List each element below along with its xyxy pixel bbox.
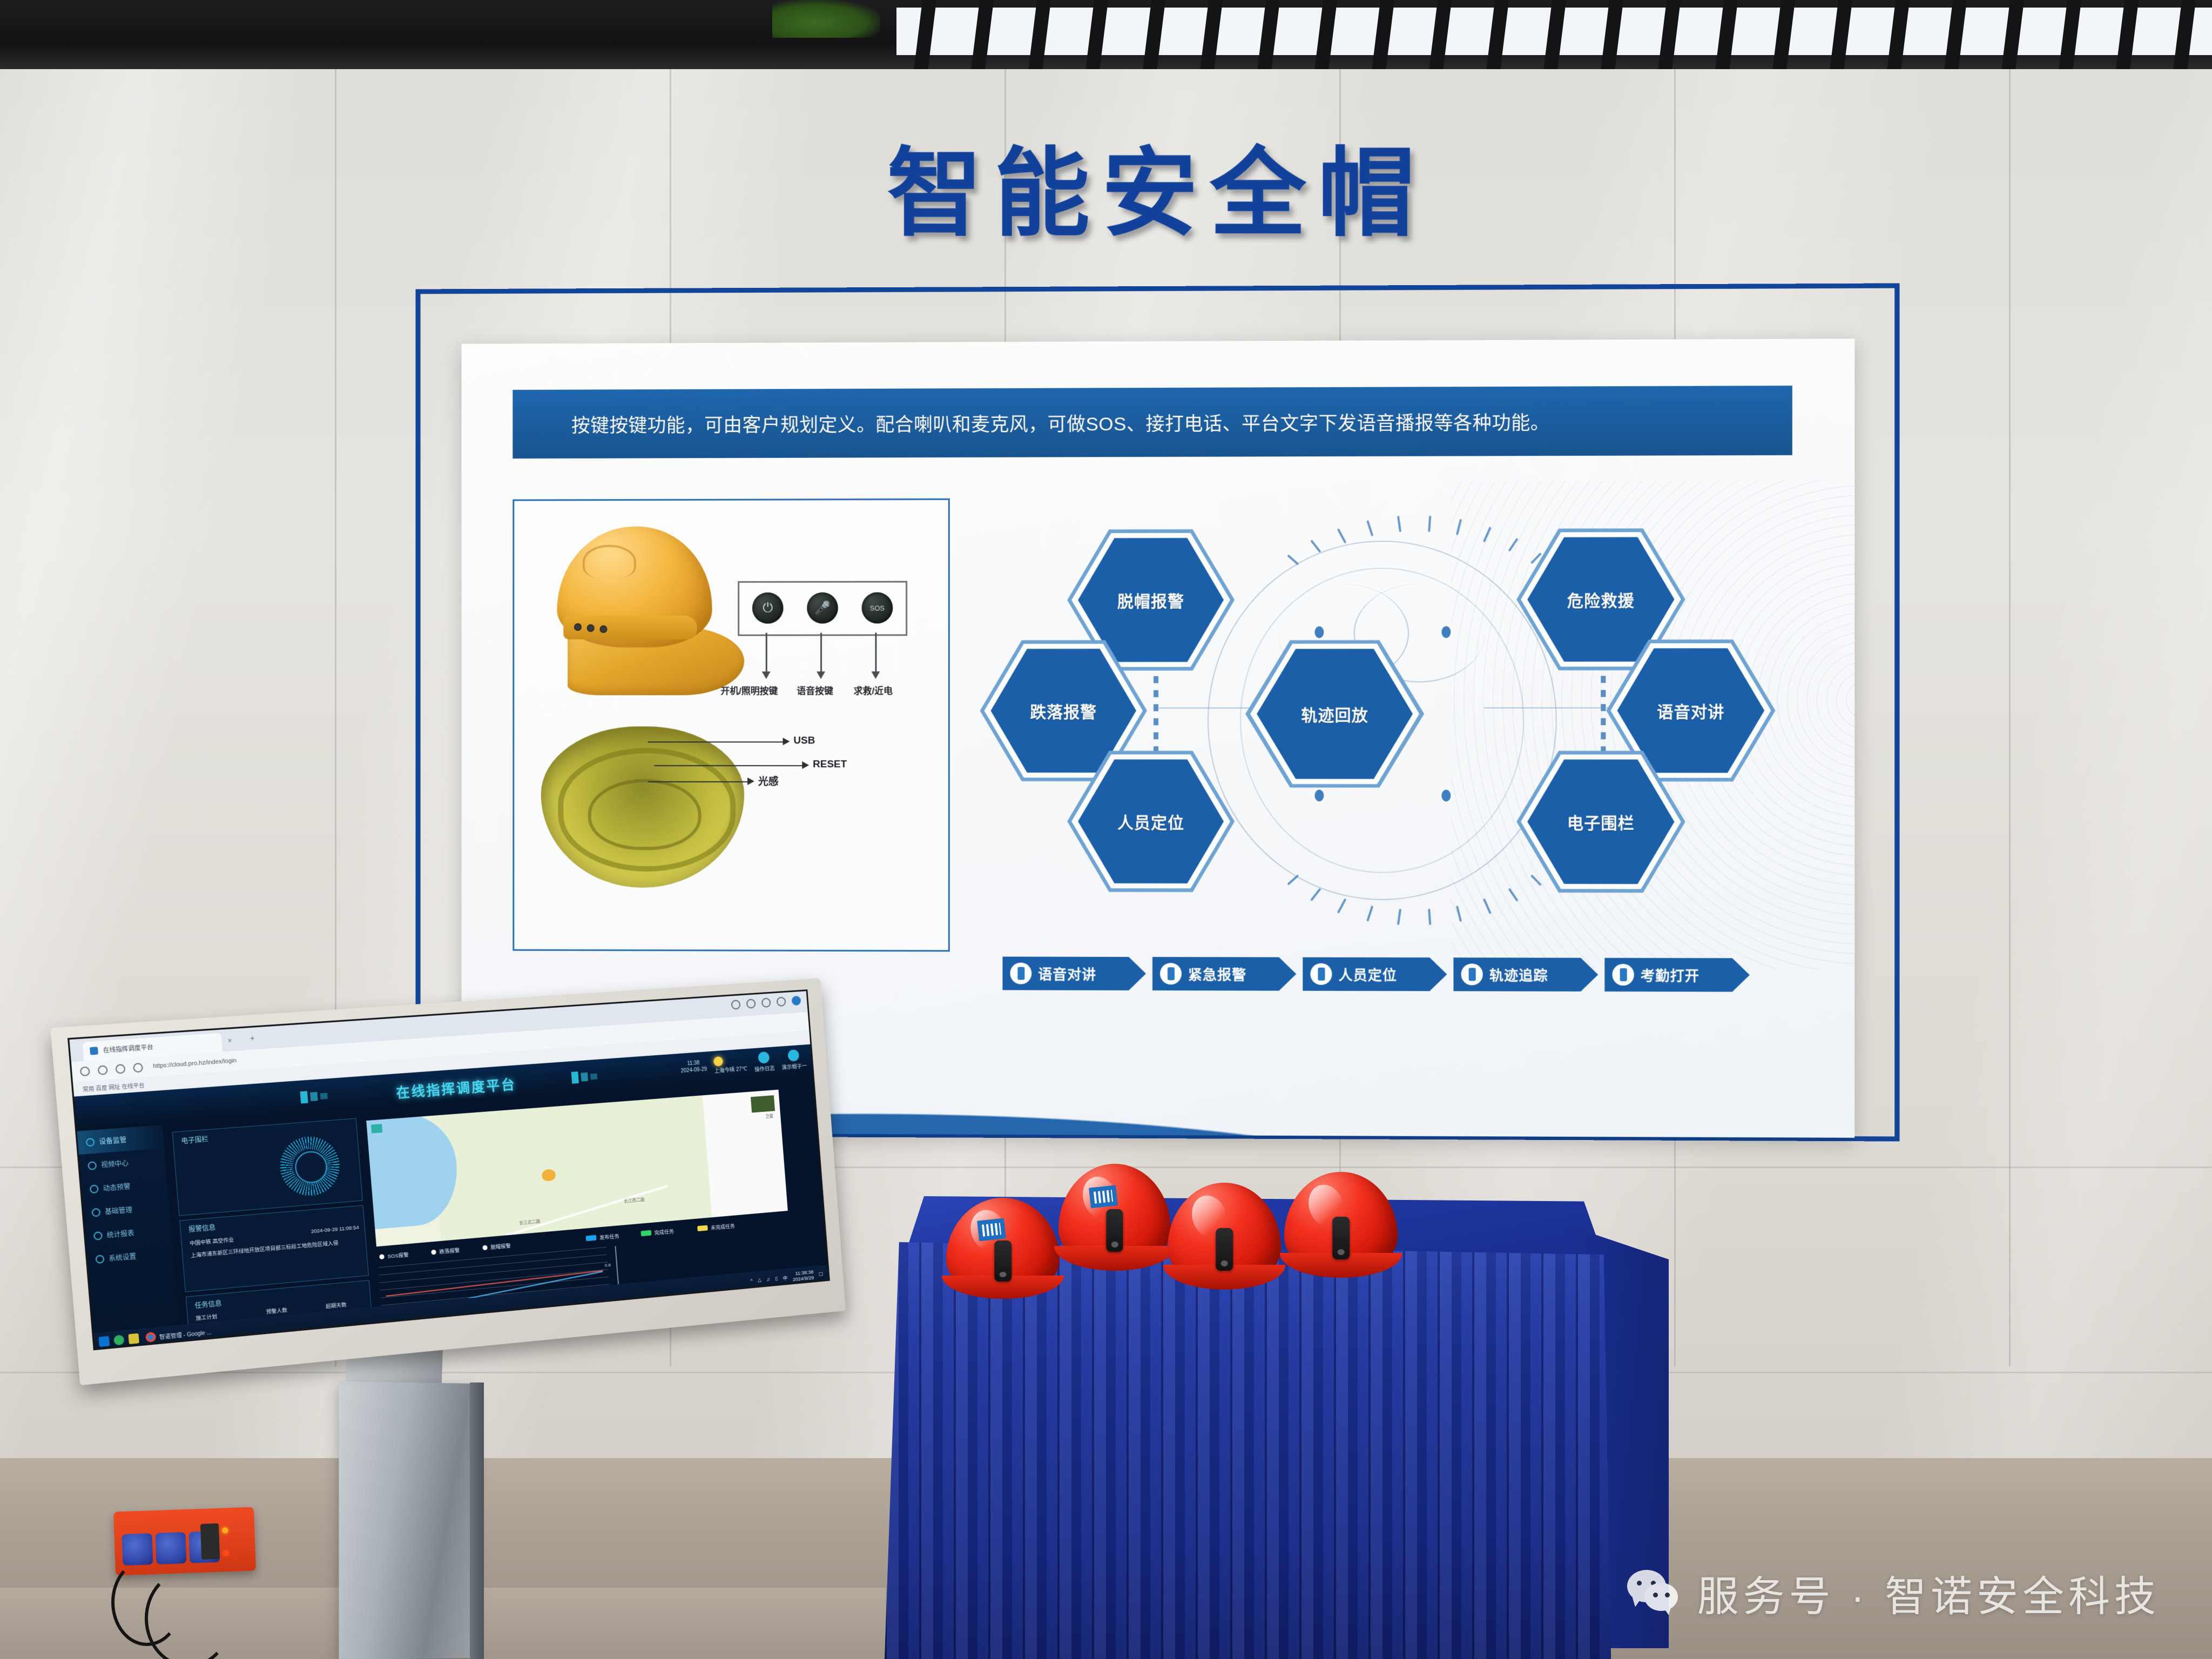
device-icon [86,1137,95,1147]
legend-swatch [586,1235,597,1242]
favicon [90,1047,98,1055]
helmet-device-module [994,1240,1011,1282]
url-text: https://cloud.pro.hz/index/login [153,1057,237,1070]
feature-pill-row: 语音对讲 紧急报警 人员定位 轨迹追踪 考勤打开 [1002,956,1783,1001]
alarm-row-title: 中国中铁 高空作业 [190,1235,234,1246]
sidebar-label: 动态预警 [103,1181,131,1193]
log-icon [758,1051,770,1064]
new-tab-icon[interactable]: + [249,1034,255,1043]
power-light-key-icon: ⏻ [752,592,784,624]
helmet-logo-sticker [1089,1185,1118,1208]
red-helmet [1168,1183,1281,1285]
legend-dot [482,1245,488,1250]
pill-personnel-positioning[interactable]: 人员定位 [1303,957,1447,992]
sidebar-label: 统计报表 [106,1228,134,1240]
watermark-text: 服务号 · 智诺安全科技 [1697,1563,2160,1623]
map-satellite-toggle[interactable] [750,1094,776,1114]
helmet-device-module [1106,1209,1123,1252]
wall-sign-title: 智能安全帽 [887,116,1427,255]
wechat-taskbar-icon[interactable] [113,1334,125,1345]
dashboard-sidebar: 设备监管 视频中心 动态预警 基础管理 [77,1125,180,1351]
keypad-callout-box: ⏻ 🎤 SOS [738,581,907,636]
tray-chevron-up-icon[interactable]: ^ [750,1278,753,1284]
taskbar-date: 2024/9/29 [793,1275,814,1283]
pill-icon [1160,963,1182,984]
legend-label: 未完成任务 [711,1222,736,1231]
legend-swatch [697,1225,708,1231]
display-table-skirt [885,1242,1611,1659]
ime-indicator[interactable]: 中 [783,1274,788,1282]
legend-label: 跌落报警 [439,1246,460,1255]
key-label-power: 开机/照明按键 [720,683,778,697]
red-helmet [1284,1172,1398,1273]
monitor-stand-column [339,1381,473,1659]
home-icon[interactable] [133,1062,143,1073]
taskbar-clock[interactable]: 11:38:38 2024/9/29 [792,1269,814,1283]
legend-swatch [640,1230,651,1236]
sos-key-icon: SOS [862,592,893,624]
task-col-warn: 预警人数 [266,1306,287,1316]
chart-legend-dismount: 脱帽报警 [482,1242,511,1251]
header-user[interactable]: 演示帽子一 [780,1049,807,1071]
header-weather: 上海今晴 27℃ [713,1055,748,1075]
sun-icon [713,1056,723,1067]
wechat-icon [1627,1570,1683,1617]
port-label-usb: USB [793,735,815,747]
ceiling-louvers [0,0,2212,69]
header-decor-right [571,1070,598,1084]
share-icon[interactable] [731,1000,740,1010]
keyboard-icon[interactable]: ▯ [775,1276,778,1282]
dashboard-header-right: 11:38 2024-09-29 上海今晴 27℃ 操作日志 [680,1049,807,1078]
wall-seam [2009,0,2011,1366]
plant-foliage [772,0,880,38]
star-icon[interactable] [761,997,771,1008]
feature-hexagon-diagram: 脱帽报警 跌落报警 人员定位 轨迹回放 危险救援 语音对讲 电子围栏 [976,502,1800,947]
volume-icon[interactable]: ♫ [766,1276,770,1282]
pill-voice-intercom[interactable]: 语音对讲 [1002,956,1146,990]
power-switch[interactable] [200,1523,220,1560]
chrome-icon [145,1332,156,1343]
watermark: 服务号 · 智诺安全科技 [1627,1563,2160,1623]
red-helmet [1058,1164,1171,1266]
map-logo-icon [371,1124,382,1134]
back-icon[interactable] [80,1066,90,1076]
chart-icon [93,1231,103,1240]
pill-icon [1461,963,1483,985]
pill-attendance-open[interactable]: 考勤打开 [1604,958,1750,992]
helmet-device-module [1216,1228,1233,1271]
folder-icon[interactable] [128,1333,139,1344]
gear-icon [95,1255,104,1264]
power-led-icon [223,1550,229,1556]
chart-legend-sos: SOS报警 [379,1250,409,1260]
exhibition-scene: 智能安全帽 按键按键功能，可由客户规划定义。配合喇叭和麦克风，可做SOS、接打电… [0,0,2212,1659]
log-label: 操作日志 [754,1064,775,1073]
pill-emergency-alarm[interactable]: 紧急报警 [1152,957,1296,991]
header-date: 2024-09-29 [680,1066,707,1075]
avatar [787,1049,799,1062]
pill-icon [1010,962,1031,984]
close-tab-icon[interactable]: × [227,1037,232,1045]
user-label: 演示帽子一 [781,1061,807,1071]
sidebar-label: 设备监管 [99,1135,127,1146]
red-helmet [946,1198,1060,1295]
helmet-exterior-illustration [536,521,771,698]
banner-text: 按键按键功能，可由客户规划定义。配合喇叭和麦克风，可做SOS、接打电话、平台文字… [512,407,1549,438]
search-icon[interactable] [746,999,756,1009]
profile-icon[interactable] [791,996,801,1006]
legend-label: SOS报警 [387,1250,409,1259]
alarm-row-time: 2024-09-29 11:08:54 [311,1225,360,1235]
sidebar-label: 系统设置 [109,1251,137,1263]
video-icon [87,1161,97,1170]
legend-label: 完成任务 [654,1227,674,1236]
monitor-stand-edge [470,1382,484,1659]
start-icon[interactable] [99,1336,110,1347]
port-label-photosensor: 光感 [758,774,779,788]
sidebar-label: 视频中心 [100,1158,129,1169]
key-label-sos: 求救/近电 [854,683,893,697]
key-label-voice: 语音按键 [797,683,833,697]
power-socket [155,1532,186,1564]
map-badge-label: 卫星 [765,1113,774,1120]
poster-banner: 按键按键功能，可由客户规划定义。配合喇叭和麦克风，可做SOS、接打电话、平台文字… [512,386,1792,458]
pill-label: 紧急报警 [1188,964,1246,984]
forward-icon[interactable] [97,1065,107,1075]
legend-label: 脱帽报警 [490,1242,511,1251]
dashboard-title: 在线指挥调度平台 [395,1074,517,1102]
helmet-logo-sticker [977,1218,1006,1241]
legend-label: 发布任务 [599,1232,620,1241]
task-col-overdue: 超期天数 [325,1300,347,1310]
weather-text: 上海今晴 27℃ [714,1064,747,1074]
browser-toolbar-icons [731,996,801,1010]
pill-icon [1310,963,1332,985]
task-legend-incomplete: 未完成任务 [697,1222,735,1232]
card-title: 报警信息 [188,1223,215,1235]
header-operation-log[interactable]: 操作日志 [753,1051,775,1073]
pill-label: 考勤打开 [1641,965,1700,984]
pill-track-tracing[interactable]: 轨迹追踪 [1453,957,1598,992]
notification-icon[interactable]: ☐ [819,1271,824,1277]
legend-dot [379,1254,385,1259]
bookmark-labels[interactable]: 常用 百度 网址 在线平台 [82,1080,145,1093]
pill-icon [1612,964,1634,986]
pill-label: 语音对讲 [1038,963,1096,983]
browser-tab-title: 在线指挥调度平台 [103,1042,153,1055]
network-icon[interactable]: △ [758,1277,762,1283]
card-alarm-info: 报警信息 中国中铁 高空作业 2024-09-29 11:08:54 上海市浦东… [179,1205,369,1292]
task-col-plan: 施工计划 [195,1312,218,1322]
extensions-icon[interactable] [777,997,786,1007]
voice-key-icon: 🎤 [807,592,838,624]
helmet-device-module [1332,1217,1350,1259]
pill-label: 人员定位 [1339,964,1397,984]
pill-label: 轨迹追踪 [1489,965,1548,984]
task-legend-completed: 完成任务 [640,1227,674,1237]
reload-icon[interactable] [115,1064,125,1074]
card-title: 电子围栏 [181,1134,208,1145]
task-legend-published: 发布任务 [585,1232,619,1242]
power-led-icon [222,1527,228,1533]
taskbar-app-label: 智诺管理 - Google ... [159,1327,211,1340]
sidebar-label: 基础管理 [105,1204,133,1216]
header-decor-left [300,1090,328,1104]
settings-icon [91,1208,100,1217]
chart-legend-fall: 跌落报警 [431,1246,460,1256]
alarm-icon [90,1184,99,1193]
port-label-reset: RESET [813,759,847,771]
legend-dot [431,1249,436,1255]
product-illustration-box: ⏻ 🎤 SOS 开机/照明按键 语音按键 求救/近电 USB [512,498,949,952]
header-clock: 11:38 2024-09-29 [680,1060,707,1075]
card-title: 任务信息 [194,1298,222,1310]
card-electronic-fence: 电子围栏 [172,1118,363,1216]
